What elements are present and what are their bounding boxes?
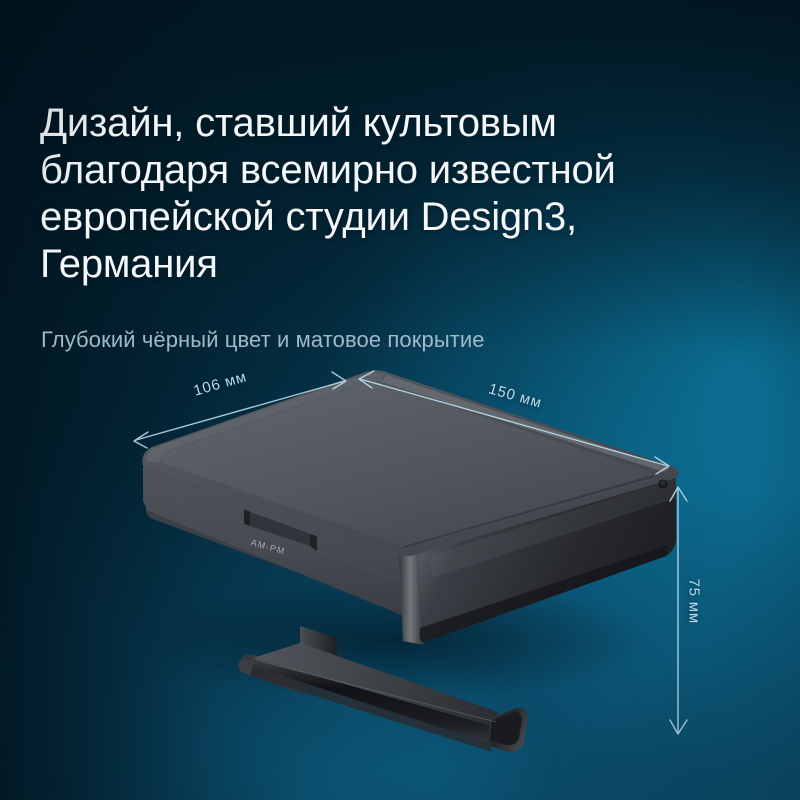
background-vignette — [0, 0, 800, 800]
product-banner: Дизайн, ставший культовым благодаря всем… — [0, 0, 800, 800]
